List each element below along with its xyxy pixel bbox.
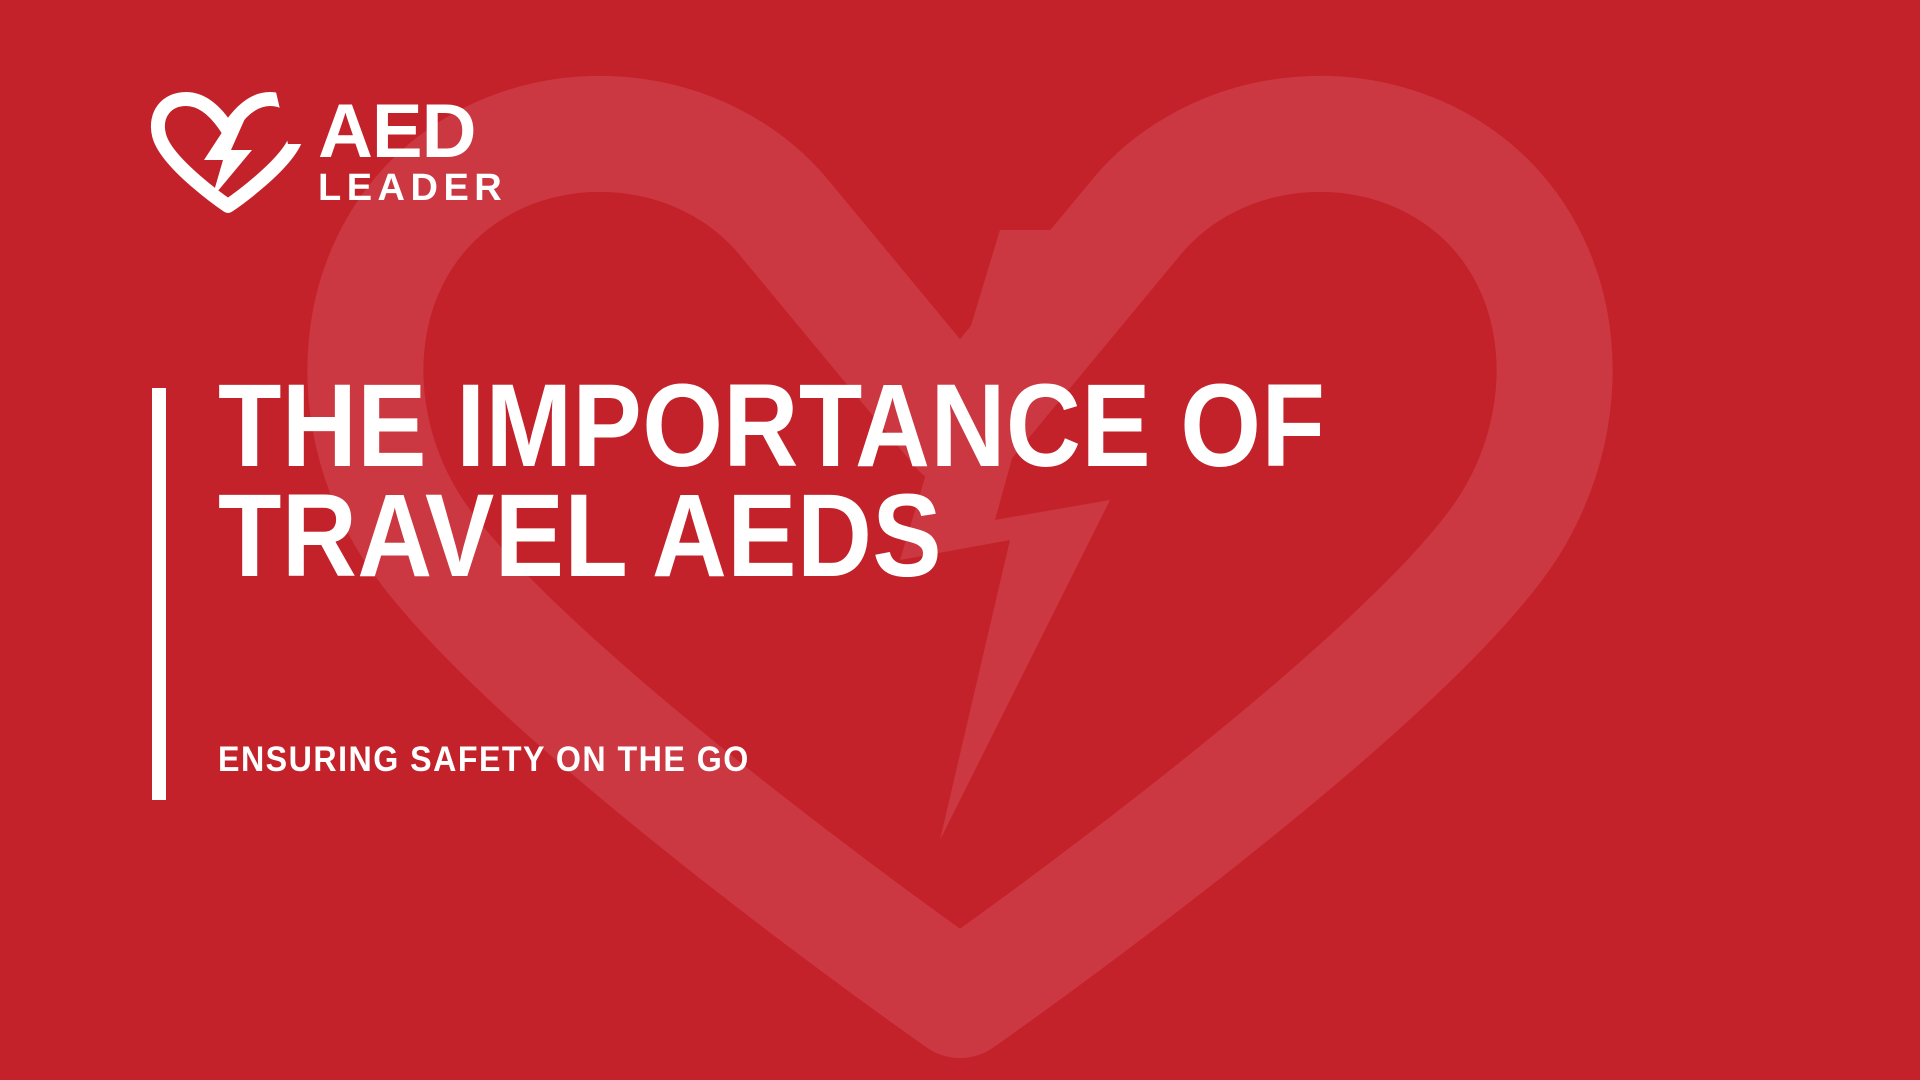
hero-copy-block: THE IMPORTANCE OF TRAVEL AEDS ENSURING S… [218,372,1518,591]
logo-wordmark: AED LEADER [318,99,507,207]
logo-aed-text: AED [318,101,507,163]
heart-with-lightning-bolt-icon [148,92,308,214]
aed-leader-logo[interactable]: AED LEADER [148,92,507,214]
page-title: THE IMPORTANCE OF TRAVEL AEDS [218,372,1362,591]
page-subtitle: ENSURING SAFETY ON THE GO [218,740,750,780]
vertical-accent-bar [152,388,166,800]
promo-banner: AED LEADER THE IMPORTANCE OF TRAVEL AEDS… [0,0,1920,1080]
logo-leader-text: LEADER [318,163,507,207]
